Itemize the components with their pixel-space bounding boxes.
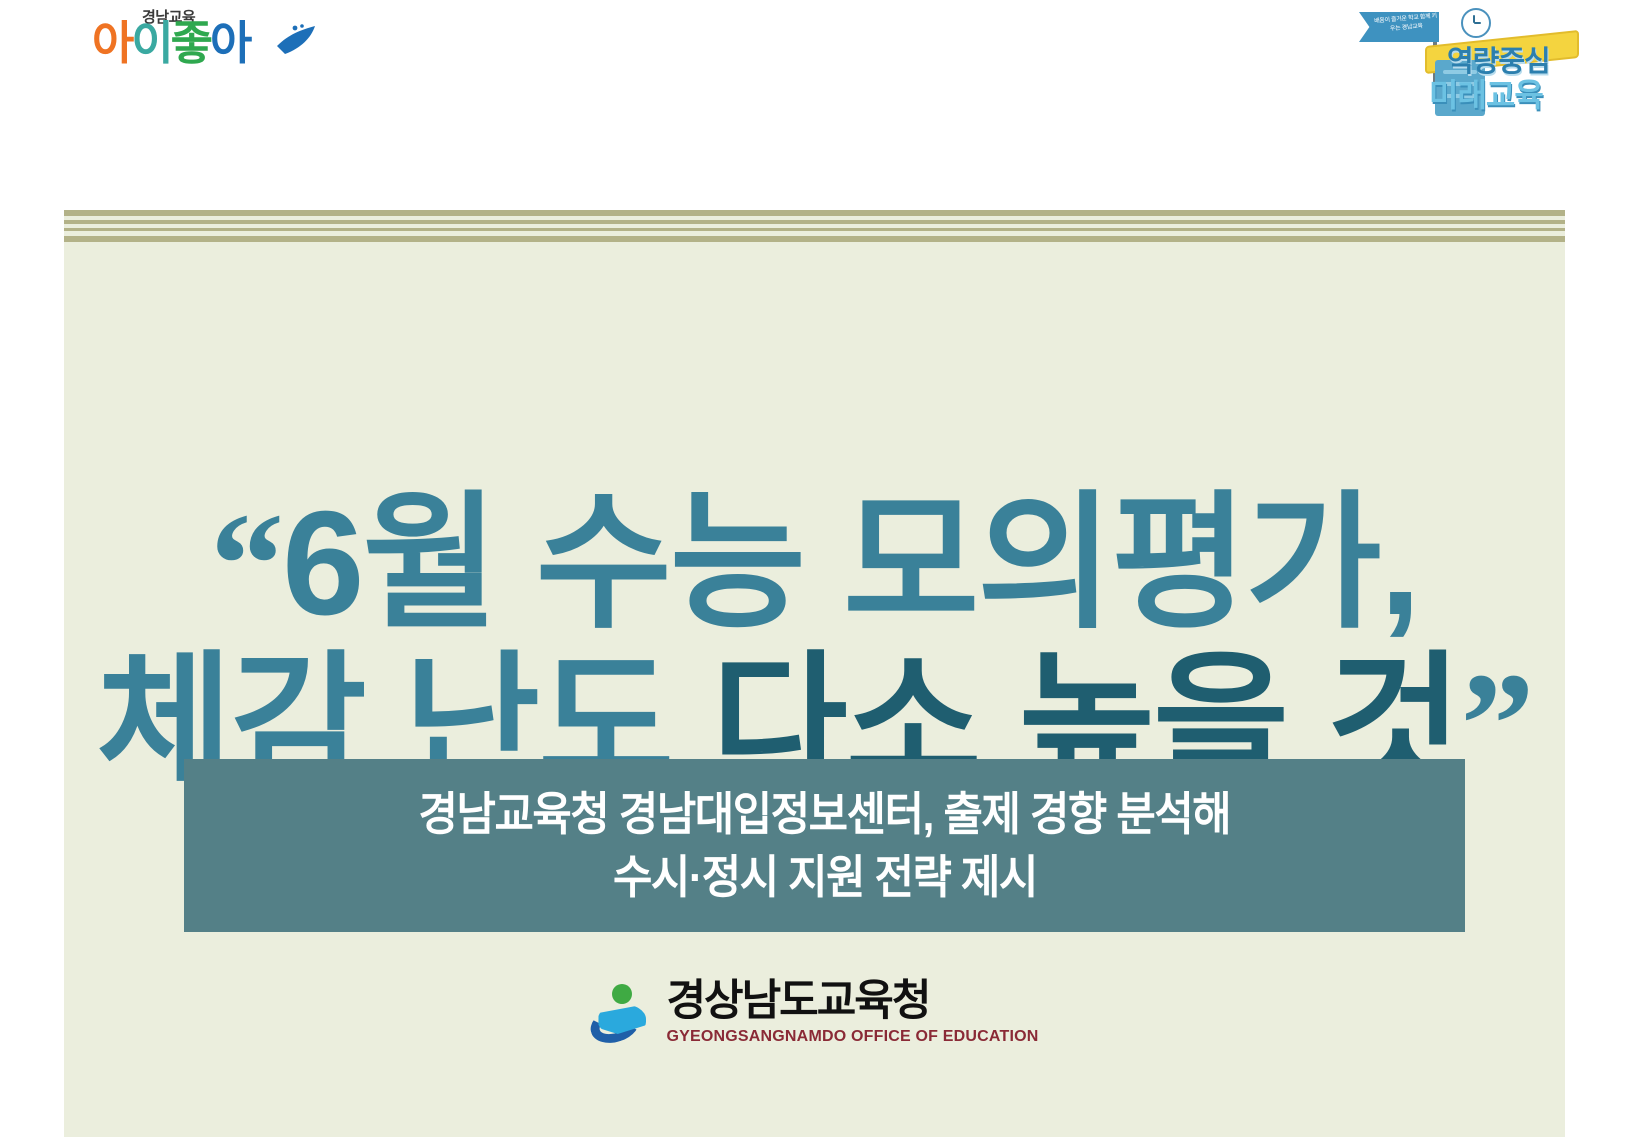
future-edu-line2: 미래교육: [1429, 70, 1543, 116]
ijoa-char-2: 이: [131, 17, 170, 69]
gyeongnam-education-ijoa-logo: 경남교육 아이좋아: [78, 2, 348, 80]
open-quote: “: [210, 483, 282, 647]
footer-korean-name: 경상남도교육청: [666, 980, 1038, 1023]
competency-centered-future-education-logo: 배움이 즐거운 학교 함께 키우는 경남교육 역량중심 미래교육: [1351, 0, 1601, 122]
headline-line-1: “6월 수능 모의평가,: [64, 478, 1565, 652]
whale-tail-icon: [271, 24, 319, 58]
office-emblem-icon: [590, 982, 652, 1044]
ijoa-char-4: 아: [210, 17, 249, 69]
footer-logo-text: 경상남도교육청 GYEONGSANGNAMDO OFFICE OF EDUCAT…: [666, 980, 1038, 1046]
subtitle-line-2: 수시·정시 지원 전략 제시: [613, 846, 1037, 908]
ijoa-char-1: 아: [92, 17, 131, 69]
footer-english-name: GYEONGSANGNAMDO OFFICE OF EDUCATION: [666, 1028, 1038, 1046]
gyeongsangnamdo-office-of-education-logo: 경상남도교육청 GYEONGSANGNAMDO OFFICE OF EDUCAT…: [64, 980, 1565, 1046]
poster-panel: “6월 수능 모의평가, 체감 난도 다소 높을 것” 경남교육청 경남대입정보…: [64, 210, 1565, 1137]
subtitle-band: 경남교육청 경남대입정보센터, 출제 경향 분석해 수시·정시 지원 전략 제시: [184, 759, 1465, 932]
headline-line-1-text: 6월 수능 모의평가,: [282, 481, 1419, 646]
close-quote: ”: [1460, 643, 1532, 807]
subtitle-line-1: 경남교육청 경남대입정보센터, 출제 경향 분석해: [419, 783, 1231, 845]
clock-icon: [1461, 8, 1491, 38]
decorative-stripe-border: [64, 210, 1565, 244]
ijoa-logo-wordmark: 아이좋아: [92, 20, 249, 66]
ijoa-char-3: 좋: [171, 17, 210, 69]
